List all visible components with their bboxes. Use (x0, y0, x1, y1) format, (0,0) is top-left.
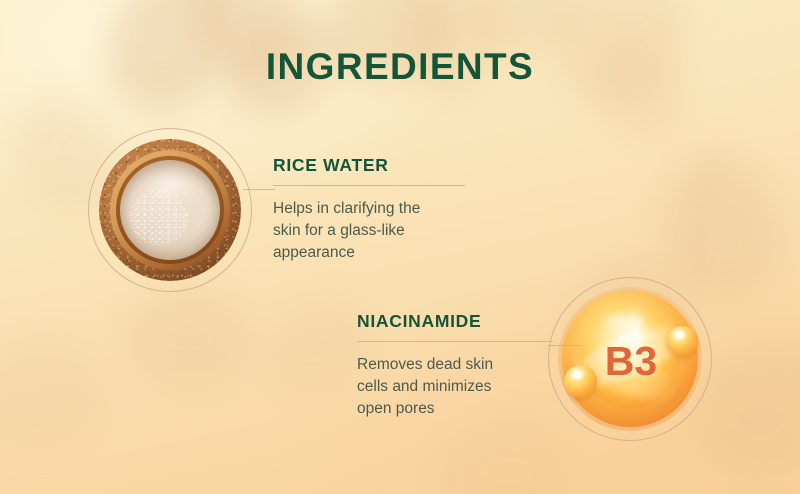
leaf-shadow-icon (0, 307, 128, 482)
ingredient-description: Removes dead skin cells and minimizes op… (357, 354, 553, 420)
bowl-artwork (99, 139, 241, 281)
ingredient-block-niacinamide: NIACINAMIDE Removes dead skin cells and … (357, 311, 553, 420)
divider-rule (357, 341, 553, 342)
ingredients-poster: INGREDIENTS RICE WATER Helps in clarifyi… (0, 0, 800, 494)
rice-water-liquid (120, 160, 220, 260)
ingredient-block-rice-water: RICE WATER Helps in clarifying the skin … (273, 155, 465, 264)
ingredient-heading: RICE WATER (273, 155, 465, 176)
liquid-sheen (144, 174, 196, 200)
niacinamide-serum-drop-image: B3 (548, 277, 712, 441)
ingredient-description: Helps in clarifying the skin for a glass… (273, 198, 465, 264)
page-title: INGREDIENTS (0, 46, 800, 88)
serum-drop-artwork: B3 (558, 287, 702, 431)
connector-line-rice-water (243, 189, 275, 190)
divider-rule (273, 185, 465, 186)
ingredient-heading: NIACINAMIDE (357, 311, 553, 332)
rice-water-bowl-image (88, 128, 252, 292)
leaf-shadow-icon (113, 272, 262, 401)
vitamin-b3-label: B3 (558, 287, 702, 431)
leaf-shadow-icon (434, 411, 577, 494)
